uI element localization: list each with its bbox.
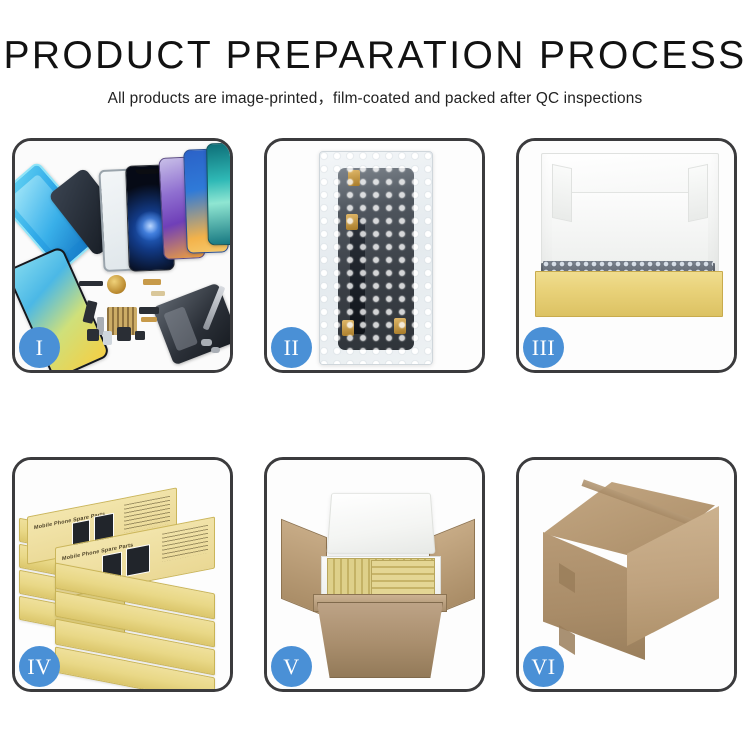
step-badge-1: I	[19, 327, 60, 368]
flex-cable	[350, 218, 365, 334]
spare-part	[211, 347, 220, 353]
vibration-motor-part	[107, 275, 126, 294]
process-step-3: III	[516, 138, 737, 373]
yellow-inner-box-base	[535, 271, 723, 317]
process-step-2: II	[264, 138, 485, 373]
spare-part	[141, 317, 157, 322]
process-step-4: Mobile Phone Spare Parts Mobile Phone Sp…	[12, 457, 233, 692]
carton-body	[317, 602, 443, 678]
spare-part	[135, 331, 145, 340]
gold-connector	[348, 170, 360, 186]
spare-part	[143, 279, 161, 285]
box-window	[126, 544, 150, 577]
page-subtitle: All products are image-printed，film-coat…	[0, 86, 750, 108]
spare-part	[117, 327, 131, 341]
spare-part	[103, 331, 112, 345]
process-step-5: V	[264, 457, 485, 692]
lid-wing-right	[688, 164, 708, 222]
gold-connector	[346, 214, 358, 230]
teal-wave-phone	[206, 143, 230, 246]
page-header: PRODUCT PREPARATION PROCESS All products…	[0, 0, 750, 108]
sealed-shipping-carton	[535, 482, 727, 670]
bubble-wrap-bag	[319, 151, 433, 365]
spare-part	[87, 329, 99, 341]
spare-part	[139, 307, 159, 314]
box-brand-label: Mobile Phone Spare Parts	[62, 542, 133, 562]
spare-part	[79, 281, 103, 286]
step-badge-4: IV	[19, 646, 60, 687]
step-badge-6: VI	[523, 646, 564, 687]
step-badge-3: III	[523, 327, 564, 368]
step-badge-2: II	[271, 327, 312, 368]
spare-part	[151, 291, 165, 296]
lid-wing-left	[552, 164, 572, 222]
page-title: PRODUCT PREPARATION PROCESS	[0, 36, 750, 77]
spare-part	[201, 339, 212, 346]
process-step-grid: I II III	[12, 138, 738, 692]
gold-connector	[394, 318, 406, 334]
box-spec-text-lines	[162, 525, 208, 562]
foam-lid	[327, 493, 436, 554]
step-badge-5: V	[271, 646, 312, 687]
process-step-1: I	[12, 138, 233, 373]
gold-connector	[342, 320, 354, 336]
process-step-6: VI	[516, 457, 737, 692]
